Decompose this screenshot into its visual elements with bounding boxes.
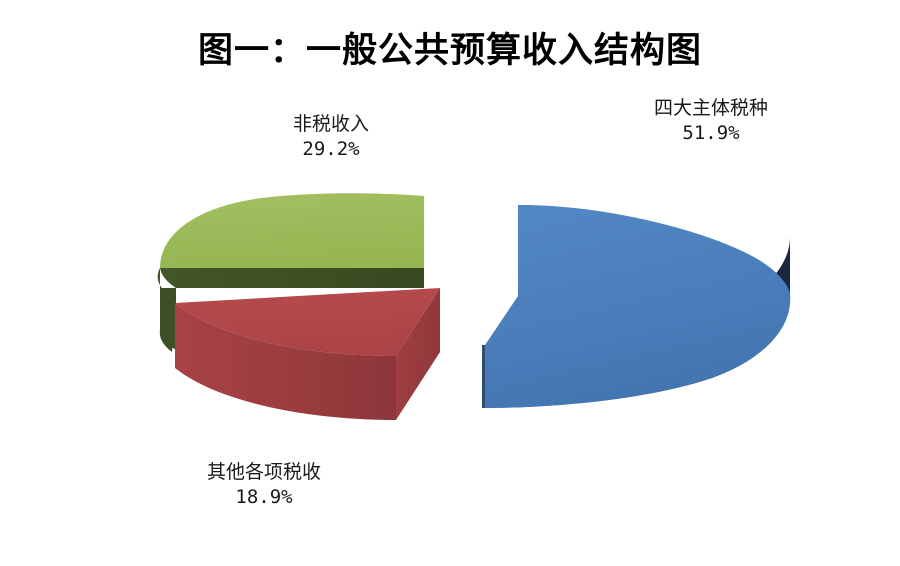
pie-slice-green-side-front xyxy=(160,268,424,288)
slice-label-blue-name: 四大主体税种 xyxy=(596,96,826,121)
slice-label-red-name: 其他各项税收 xyxy=(134,460,394,485)
pie-slice-blue[interactable] xyxy=(482,205,790,408)
slice-label-green-pct: 29.2% xyxy=(216,137,446,162)
pie-chart-figure: 图一：一般公共预算收入结构图 xyxy=(0,0,900,566)
slice-label-green: 非税收入 29.2% xyxy=(216,112,446,162)
pie-slice-blue-side-left xyxy=(482,345,485,408)
pie-slice-green-top xyxy=(160,193,424,268)
slice-label-red: 其他各项税收 18.9% xyxy=(134,460,394,510)
slice-label-red-pct: 18.9% xyxy=(134,485,394,510)
slice-label-blue: 四大主体税种 51.9% xyxy=(596,96,826,146)
slice-label-green-name: 非税收入 xyxy=(216,112,446,137)
pie-slice-red[interactable] xyxy=(175,288,440,420)
slice-label-blue-pct: 51.9% xyxy=(596,121,826,146)
pie-slice-blue-top-shape xyxy=(486,205,790,406)
